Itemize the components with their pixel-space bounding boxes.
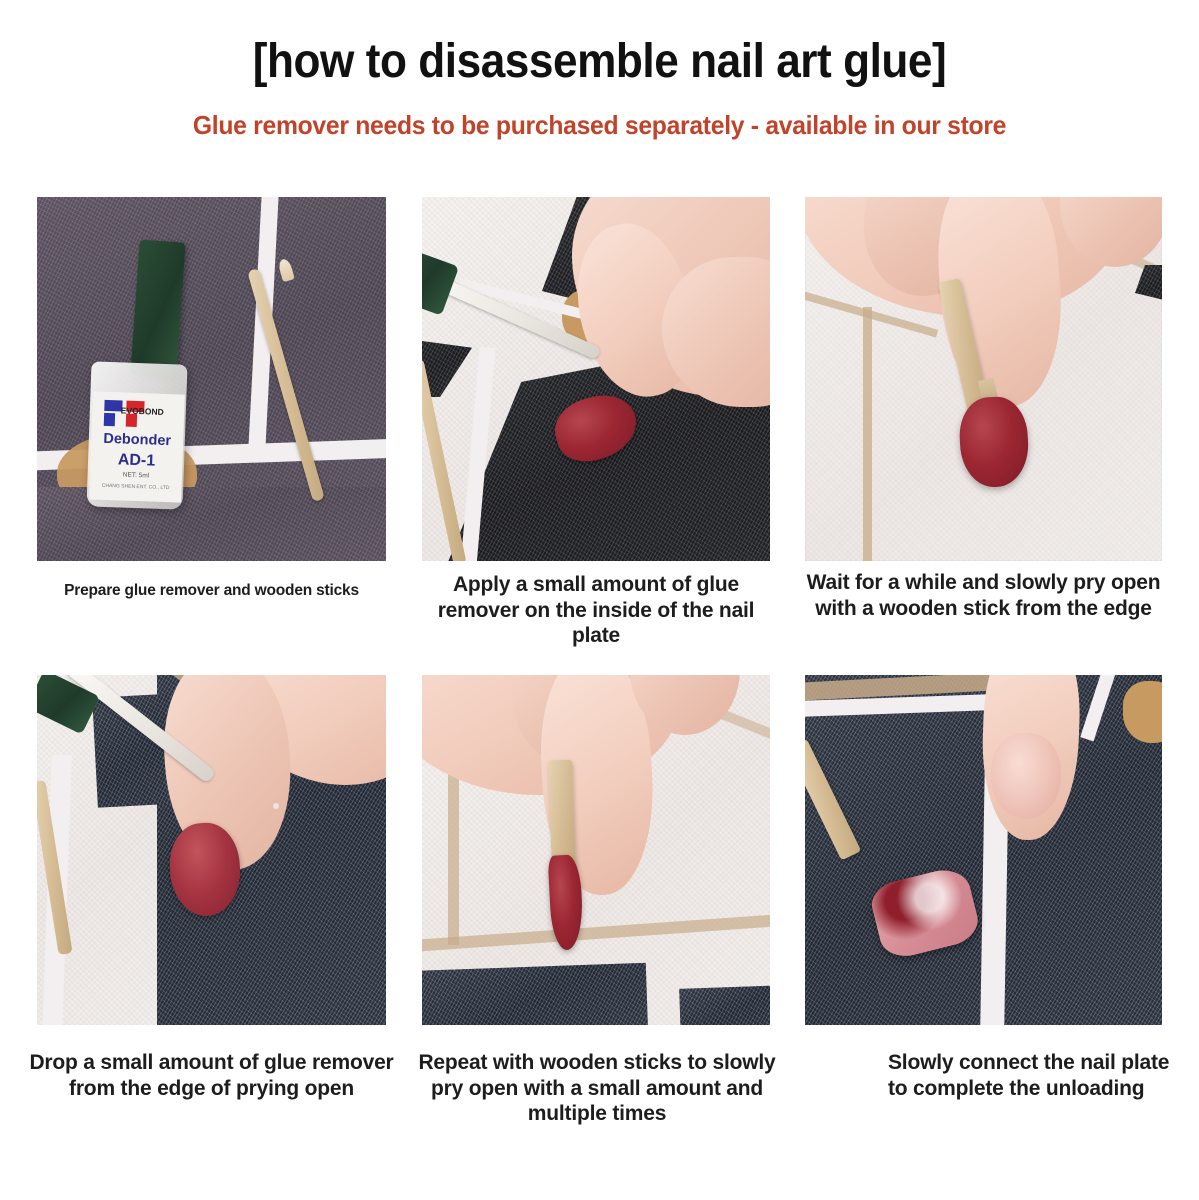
surface-highlight	[273, 803, 279, 809]
dark-block-bottom-right	[679, 985, 770, 1025]
dark-block-bottom-left	[422, 963, 648, 1025]
product-net: NET: 5ml	[90, 471, 182, 481]
product-maker: CHANG SHEN ENT. CO., LTD	[90, 483, 182, 491]
step-1-photo: EVOBOND Debonder AD-1 NET: 5ml CHANG SHE…	[37, 197, 386, 561]
step-2-caption: Apply a small amount of glue remover on …	[422, 572, 770, 649]
bottle-cap	[130, 240, 185, 378]
brand-swatch-blue-2	[104, 413, 115, 426]
product-name: Debonder	[91, 431, 183, 449]
step-2-photo	[422, 197, 770, 561]
product-model: AD-1	[90, 451, 183, 470]
natural-nail	[991, 733, 1061, 819]
step-5-caption: Repeat with wooden sticks to slowly pry …	[414, 1050, 780, 1127]
product-brand: EVOBOND	[106, 406, 178, 417]
step-6-caption: Slowly connect the nail plate to complet…	[888, 1050, 1176, 1101]
step-3-photo	[805, 197, 1162, 561]
step-4-caption: Drop a small amount of glue remover from…	[25, 1050, 398, 1101]
step-4-photo	[37, 675, 386, 1025]
steps-grid: EVOBOND Debonder AD-1 NET: 5ml CHANG SHE…	[0, 0, 1199, 1200]
tan-stripe-vertical	[863, 307, 872, 561]
tan-stripe-vertical	[448, 765, 459, 945]
wooden-stick	[548, 760, 576, 871]
bottle-label-content: EVOBOND Debonder AD-1 NET: 5ml CHANG SHE…	[89, 391, 185, 502]
step-3-caption: Wait for a while and slowly pry open wit…	[796, 570, 1171, 621]
step-1-caption: Prepare glue remover and wooden sticks	[37, 582, 386, 601]
instruction-infographic: [how to disassemble nail art glue] Glue …	[0, 0, 1199, 1200]
step-5-photo	[422, 675, 770, 1025]
step-6-photo	[805, 675, 1162, 1025]
